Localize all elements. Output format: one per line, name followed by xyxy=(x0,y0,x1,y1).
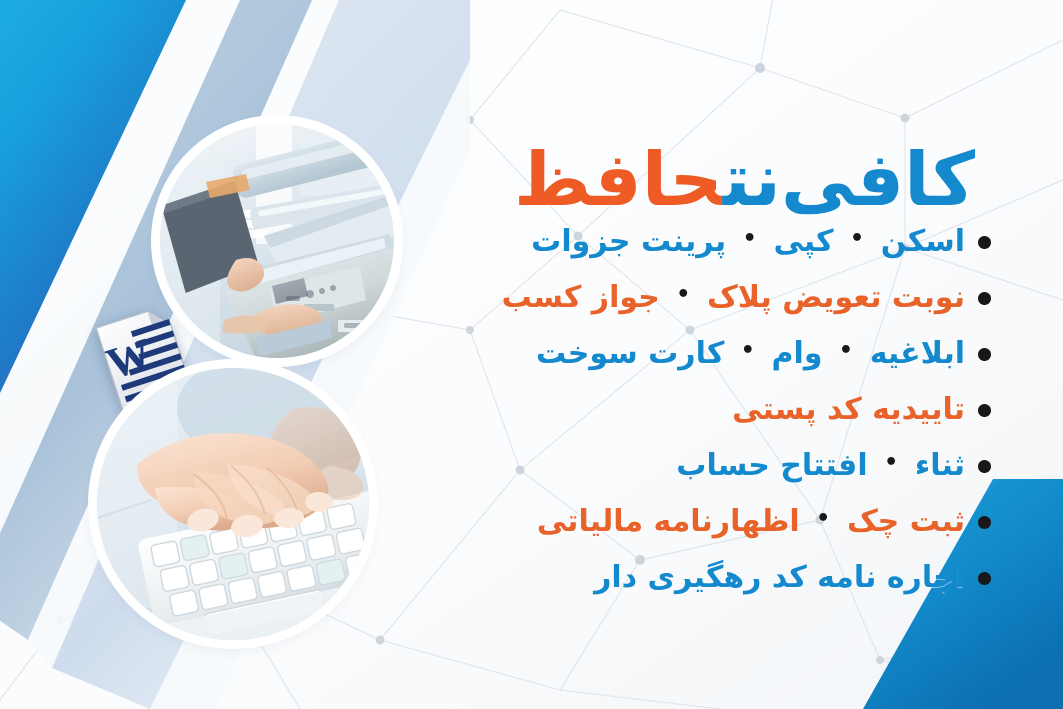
bullet-icon xyxy=(978,460,991,473)
bullet-icon xyxy=(978,516,991,529)
service-label: نوبت تعویض پلاک • جواز کسب xyxy=(502,283,965,313)
service-label: ابلاغیه • وام • کارت سوخت xyxy=(536,339,965,369)
text-content-area: کافی‌نتحافظ اسکن • کپی • پرینت جزوات نوب… xyxy=(443,0,1063,709)
title-segment-blue: کافی‌نت xyxy=(723,137,975,223)
bullet-icon xyxy=(978,404,991,417)
bullet-icon xyxy=(978,292,991,305)
bullet-icon xyxy=(978,348,991,361)
service-list: اسکن • کپی • پرینت جزوات نوبت تعویض پلاک… xyxy=(455,214,991,606)
bullet-icon xyxy=(978,572,991,585)
list-item: نوبت تعویض پلاک • جواز کسب xyxy=(455,270,991,326)
title-segment-orange: حافظ xyxy=(514,137,723,223)
service-label: ثبت چک • اظهارنامه مالیاتی xyxy=(537,507,965,537)
service-label: ثناء • افتتاح حساب xyxy=(676,451,965,481)
list-item: اسکن • کپی • پرینت جزوات xyxy=(455,214,991,270)
service-label: تاییدیه کد پستی xyxy=(732,395,965,425)
list-item: ثبت چک • اظهارنامه مالیاتی xyxy=(455,494,991,550)
list-item: تاییدیه کد پستی xyxy=(455,382,991,438)
list-item: ابلاغیه • وام • کارت سوخت xyxy=(455,326,991,382)
list-item: ثناء • افتتاح حساب xyxy=(455,438,991,494)
list-item: اجاره نامه کد رهگیری دار xyxy=(455,550,991,606)
service-label: اجاره نامه کد رهگیری دار xyxy=(594,563,965,593)
business-card-flyer: W xyxy=(0,0,1063,709)
page-title: کافی‌نتحافظ xyxy=(514,142,975,220)
hands-typing-keyboard-photo xyxy=(97,368,369,640)
bullet-icon xyxy=(978,236,991,249)
service-label: اسکن • کپی • پرینت جزوات xyxy=(531,227,965,257)
